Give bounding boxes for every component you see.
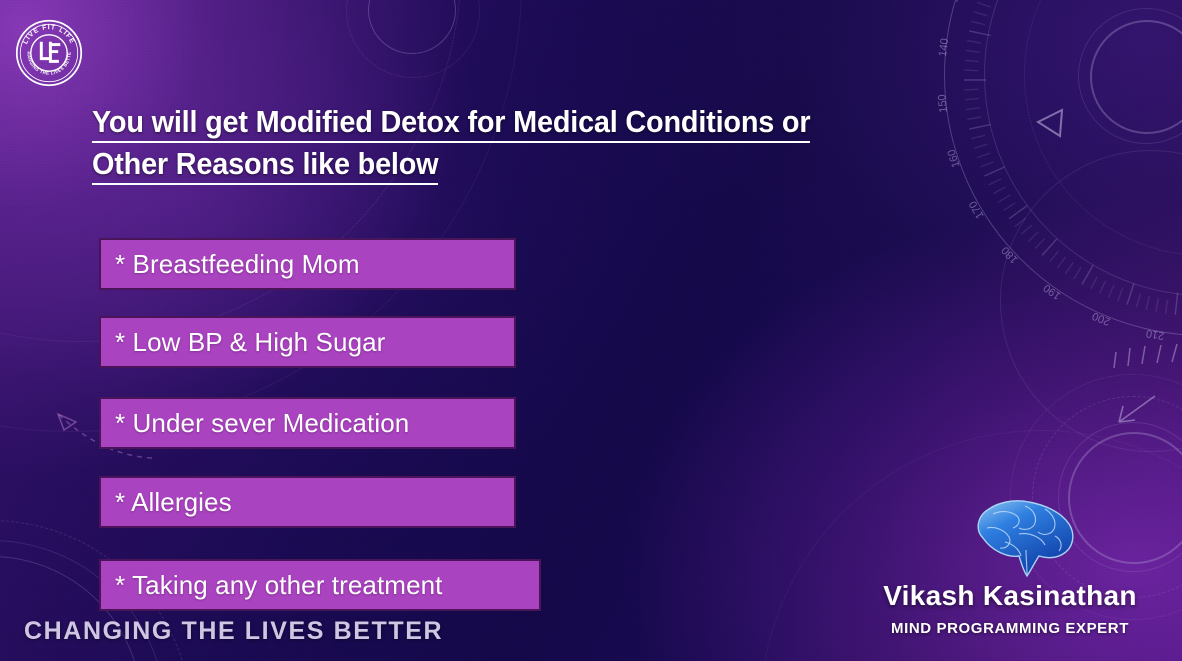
- deco-gauge-inner-dotted: [1024, 0, 1182, 256]
- heading-line-2-text: Other Reasons like below: [92, 146, 438, 185]
- bullet-item: * Taking any other treatment: [99, 559, 541, 611]
- deco-ring-topright-2: [1078, 8, 1182, 144]
- speaker-name: Vikash Kasinathan: [860, 580, 1160, 612]
- gauge-tick-label: 210: [1145, 327, 1165, 342]
- slide-root: 8090100110120130140150160170180190200210: [0, 0, 1182, 661]
- heading-line-2: Other Reasons like below: [92, 143, 873, 185]
- deco-arc-midright: [1000, 150, 1182, 452]
- deco-gauge-outer-ring: [944, 0, 1182, 336]
- bullet-item-label: * Taking any other treatment: [115, 570, 443, 601]
- bullet-item: * Low BP & High Sugar: [99, 316, 516, 368]
- deco-ring-topleft-outer: [346, 0, 480, 78]
- gauge-tick-label: 170: [967, 199, 987, 221]
- bullet-item-label: * Low BP & High Sugar: [115, 327, 385, 358]
- bullet-item: * Breastfeeding Mom: [99, 238, 516, 290]
- slide-heading: You will get Modified Detox for Medical …: [92, 101, 932, 185]
- bullet-item-label: * Breastfeeding Mom: [115, 249, 360, 280]
- brain-icon: [963, 494, 1087, 580]
- deco-gauge-numbers: 8090100110120130140150160170180190200210: [930, 0, 1182, 360]
- deco-arrow-right: [1115, 392, 1159, 428]
- gauge-tick-label: 160: [946, 148, 963, 169]
- gauge-tick-label: 140: [937, 38, 951, 58]
- bullet-item: * Under sever Medication: [99, 397, 516, 449]
- deco-ring-topright-1: [1090, 20, 1182, 134]
- brand-tagline: CHANGING THE LIVES BETTER: [24, 617, 443, 646]
- gauge-tick-label: 130: [948, 0, 965, 4]
- bullet-item-label: * Under sever Medication: [115, 408, 409, 439]
- speaker-role: MIND PROGRAMMING EXPERT: [860, 620, 1160, 637]
- gauge-tick-label: 180: [999, 244, 1020, 266]
- gauge-tick-label: 200: [1091, 309, 1113, 327]
- heading-line-1-text: You will get Modified Detox for Medical …: [92, 104, 810, 143]
- deco-ticks-midright: [1110, 340, 1182, 380]
- heading-line-1: You will get Modified Detox for Medical …: [92, 101, 873, 143]
- gauge-tick-label: 190: [1041, 281, 1063, 301]
- deco-ring-topleft: [368, 0, 456, 54]
- bullet-item-label: * Allergies: [115, 487, 232, 518]
- deco-gauge-ticks: [930, 0, 1182, 360]
- bullet-item: * Allergies: [99, 476, 516, 528]
- gauge-tick-label: 150: [936, 94, 950, 113]
- live-fit-life-logo: LIVE FIT LIFE CHANGING THE LIVES BETTER: [14, 18, 84, 88]
- deco-gauge-mid-ring: [984, 0, 1182, 296]
